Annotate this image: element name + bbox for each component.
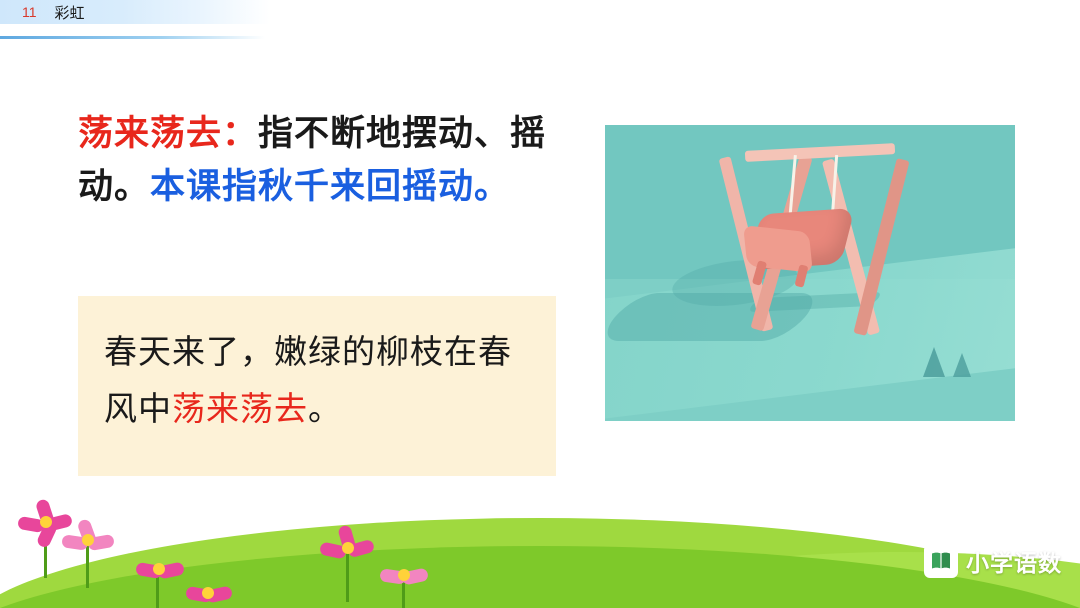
header-underline	[0, 36, 265, 39]
header-bar: 11 彩虹	[0, 0, 270, 24]
flower-core	[342, 542, 354, 554]
example-sentence: 春天来了，嫩绿的柳枝在春风中荡来荡去。	[104, 324, 530, 438]
flower-core	[202, 587, 214, 599]
lesson-number: 11	[22, 4, 37, 20]
watermark-text: 小学语数	[966, 544, 1062, 578]
example-highlight: 荡来荡去	[172, 389, 308, 428]
flower-stem	[346, 552, 349, 602]
definition-block: 荡来荡去：指不断地摆动、摇动。本课指秋千来回摇动。	[78, 108, 548, 213]
flower-core	[82, 534, 94, 546]
swing-top-bar	[745, 143, 895, 162]
definition-note: 本课指秋千来回摇动。	[150, 166, 510, 207]
flower-core	[40, 516, 52, 528]
flower-stem	[86, 542, 89, 588]
example-suffix: 。	[308, 389, 342, 428]
meadow-decoration	[0, 488, 1080, 608]
example-box: 春天来了，嫩绿的柳枝在春风中荡来荡去。	[78, 296, 556, 476]
swing-illustration	[605, 125, 1015, 421]
book-logo-icon	[924, 544, 958, 578]
watermark: 小学语数	[924, 544, 1062, 578]
definition-colon: ：	[222, 113, 258, 154]
lesson-title: 彩虹	[55, 2, 85, 23]
definition-keyword: 荡来荡去	[78, 113, 222, 154]
flower-core	[153, 563, 165, 575]
flower-core	[398, 569, 410, 581]
